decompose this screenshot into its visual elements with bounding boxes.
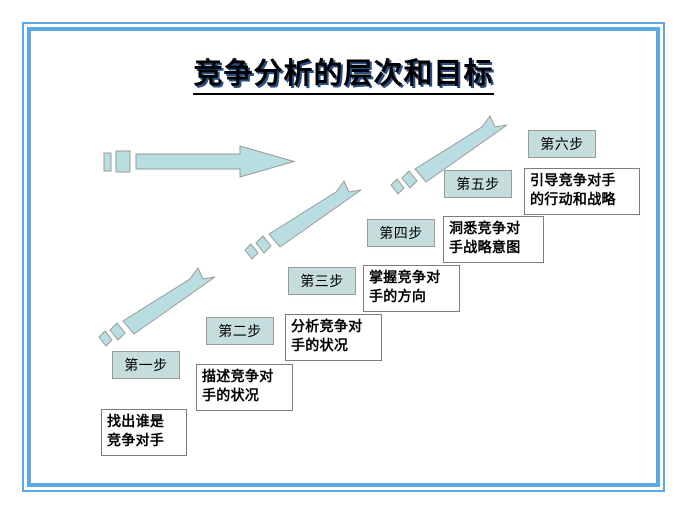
step-desc-5-line2: 手战略意图 (449, 239, 539, 258)
step-desc-4-line1: 掌握竞争对 (369, 269, 455, 288)
step-chip-1-label: 第一步 (124, 355, 168, 375)
step-desc-2-line2: 手的状况 (202, 387, 288, 406)
step-chip-4[interactable]: 第四步 (367, 219, 435, 247)
step-desc-5-line1: 洞悉竞争对 (449, 220, 539, 239)
step-desc-3-line1: 分析竞争对 (291, 318, 377, 337)
page-title: 竞争分析的层次和目标 (0, 50, 687, 95)
step-desc-2-line1: 描述竞争对 (202, 368, 288, 387)
step-desc-2[interactable]: 描述竞争对 手的状况 (196, 364, 293, 411)
step-desc-6-line2: 的行动和战略 (530, 191, 635, 210)
step-chip-6-label: 第六步 (540, 134, 584, 154)
arrow-horizontal (104, 146, 294, 177)
step-chip-2[interactable]: 第二步 (206, 317, 274, 345)
step-chip-1[interactable]: 第一步 (112, 351, 180, 379)
step-desc-3[interactable]: 分析竞争对 手的状况 (285, 314, 382, 361)
step-chip-4-label: 第四步 (379, 223, 423, 243)
step-chip-5-label: 第五步 (456, 174, 500, 194)
arrow-diagonal-1 (99, 268, 215, 346)
step-desc-1[interactable]: 找出谁是 竞争对手 (101, 409, 187, 456)
step-desc-4[interactable]: 掌握竞争对 手的方向 (363, 265, 460, 312)
step-chip-3[interactable]: 第三步 (288, 267, 356, 295)
step-desc-4-line2: 手的方向 (369, 288, 455, 307)
page-title-text: 竞争分析的层次和目标 (193, 50, 493, 95)
slide-canvas: 竞争分析的层次和目标 (0, 0, 687, 518)
step-desc-6[interactable]: 引导竞争对手 的行动和战略 (524, 168, 640, 215)
step-desc-1-line2: 竞争对手 (107, 432, 182, 451)
step-chip-3-label: 第三步 (300, 271, 344, 291)
step-chip-6[interactable]: 第六步 (528, 130, 596, 158)
step-desc-1-line1: 找出谁是 (107, 413, 182, 432)
step-desc-3-line2: 手的状况 (291, 337, 377, 356)
step-chip-2-label: 第二步 (218, 321, 262, 341)
step-desc-6-line1: 引导竞争对手 (530, 172, 635, 191)
arrow-diagonal-2 (245, 181, 361, 259)
step-chip-5[interactable]: 第五步 (444, 170, 512, 198)
step-desc-5[interactable]: 洞悉竞争对 手战略意图 (443, 216, 544, 263)
